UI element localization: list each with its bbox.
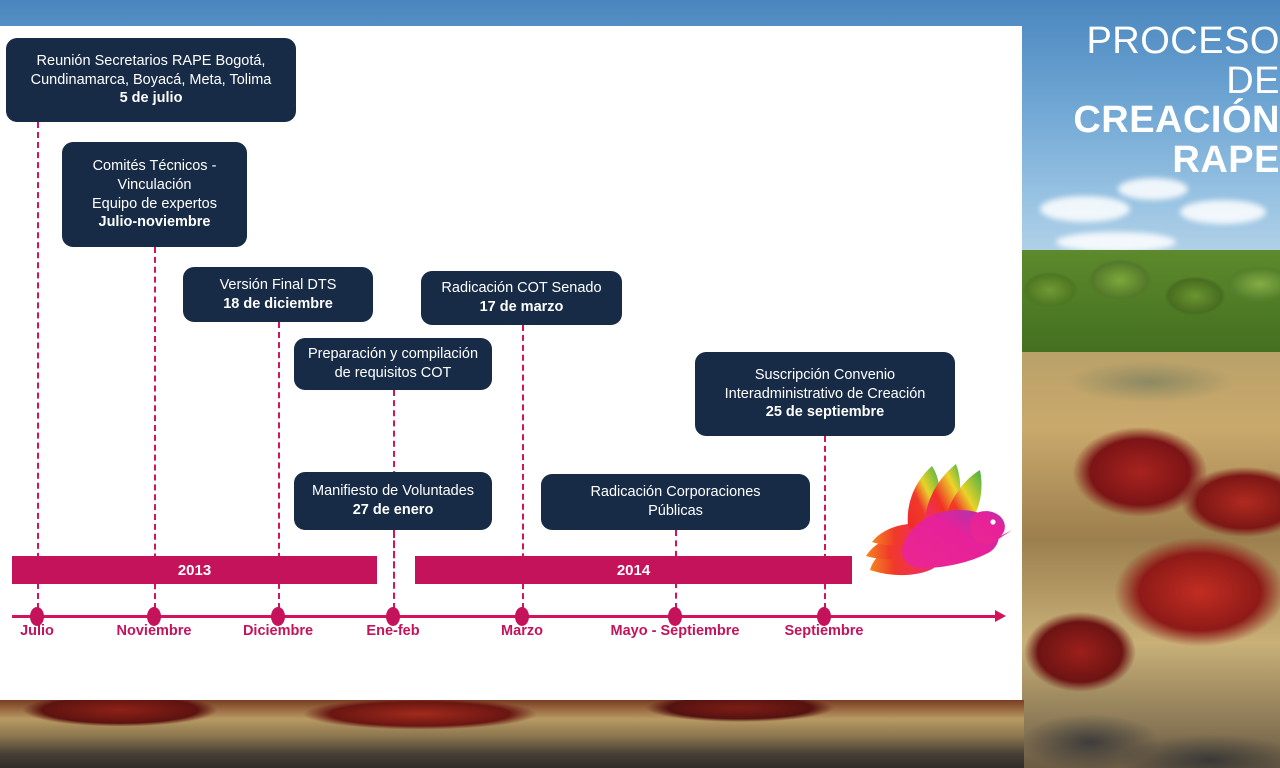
card-line: Radicación COT Senado — [441, 279, 601, 298]
card-line: 18 de diciembre — [223, 295, 333, 314]
card-line: 5 de julio — [120, 89, 183, 108]
cloud-shape — [1040, 196, 1130, 222]
axis-tick-label: Noviembre — [117, 623, 192, 639]
card-line: Preparación y compilación — [308, 345, 478, 364]
card-line: 17 de marzo — [480, 298, 564, 317]
connector-line-manifiesto-voluntades — [393, 530, 395, 609]
timeline-card-manifiesto-voluntades[interactable]: Manifiesto de Voluntades27 de enero — [294, 472, 492, 530]
axis-arrow-icon — [995, 610, 1006, 622]
year-bar-label: 2013 — [178, 562, 211, 579]
card-line: 27 de enero — [353, 501, 434, 520]
cloud-shape — [1118, 178, 1188, 200]
card-line: Públicas — [648, 502, 703, 521]
card-line: Equipo de expertos — [92, 195, 217, 214]
river-region — [1020, 352, 1280, 768]
connector-line-reunion-secretarios — [37, 122, 39, 609]
title-line-4: RAPE — [1030, 141, 1280, 181]
card-line: Julio-noviembre — [99, 213, 211, 232]
card-line: Versión Final DTS — [220, 276, 337, 295]
card-line: Manifiesto de Voluntades — [312, 482, 474, 501]
page-title: PROCESO DE CREACIÓN RAPE — [1030, 22, 1280, 180]
axis-tick-label: Diciembre — [243, 623, 313, 639]
card-line: Vinculación — [118, 176, 192, 195]
card-line: de requisitos COT — [335, 364, 452, 383]
timeline-card-reunion-secretarios[interactable]: Reunión Secretarios RAPE Bogotá,Cundinam… — [6, 38, 296, 122]
timeline-card-comites-tecnicos[interactable]: Comités Técnicos -VinculaciónEquipo de e… — [62, 142, 247, 247]
axis-tick-label: Julio — [20, 623, 54, 639]
card-line: Radicación Corporaciones — [590, 483, 760, 502]
title-line-2: DE — [1030, 62, 1280, 102]
timeline-card-version-final-dts[interactable]: Versión Final DTS18 de diciembre — [183, 267, 373, 322]
year-bar-2013: 2013 — [12, 556, 377, 584]
connector-line-comites-tecnicos — [154, 247, 156, 609]
card-line: Cundinamarca, Boyacá, Meta, Tolima — [31, 71, 272, 90]
card-line: Interadministrativo de Creación — [725, 385, 926, 404]
timeline-card-radicacion-corporaciones-publicas[interactable]: Radicación CorporacionesPúblicas — [541, 474, 810, 530]
bird-logo-icon — [862, 452, 1012, 582]
card-line: Suscripción Convenio — [755, 366, 895, 385]
axis-tick-label: Mayo - Septiembre — [611, 623, 740, 639]
card-line: Comités Técnicos - — [93, 157, 217, 176]
axis-tick-label: Ene-feb — [366, 623, 419, 639]
timeline-card-radicacion-cot-senado[interactable]: Radicación COT Senado17 de marzo — [421, 271, 622, 325]
year-bar-2014: 2014 — [415, 556, 852, 584]
cloud-shape — [1180, 200, 1266, 224]
bottom-photo-strip — [0, 700, 1024, 768]
year-bar-label: 2014 — [617, 562, 650, 579]
cloud-shape — [1056, 232, 1176, 252]
timeline-card-preparacion-requisitos-cot[interactable]: Preparación y compilaciónde requisitos C… — [294, 338, 492, 390]
card-line: 25 de septiembre — [766, 403, 884, 422]
axis-tick-label: Septiembre — [785, 623, 864, 639]
timeline-card-suscripcion-convenio[interactable]: Suscripción ConvenioInteradministrativo … — [695, 352, 955, 436]
title-line-1: PROCESO — [1030, 22, 1280, 62]
title-line-3: CREACIÓN — [1030, 101, 1280, 141]
card-line: Reunión Secretarios RAPE Bogotá, — [37, 52, 266, 71]
axis-tick-label: Marzo — [501, 623, 543, 639]
